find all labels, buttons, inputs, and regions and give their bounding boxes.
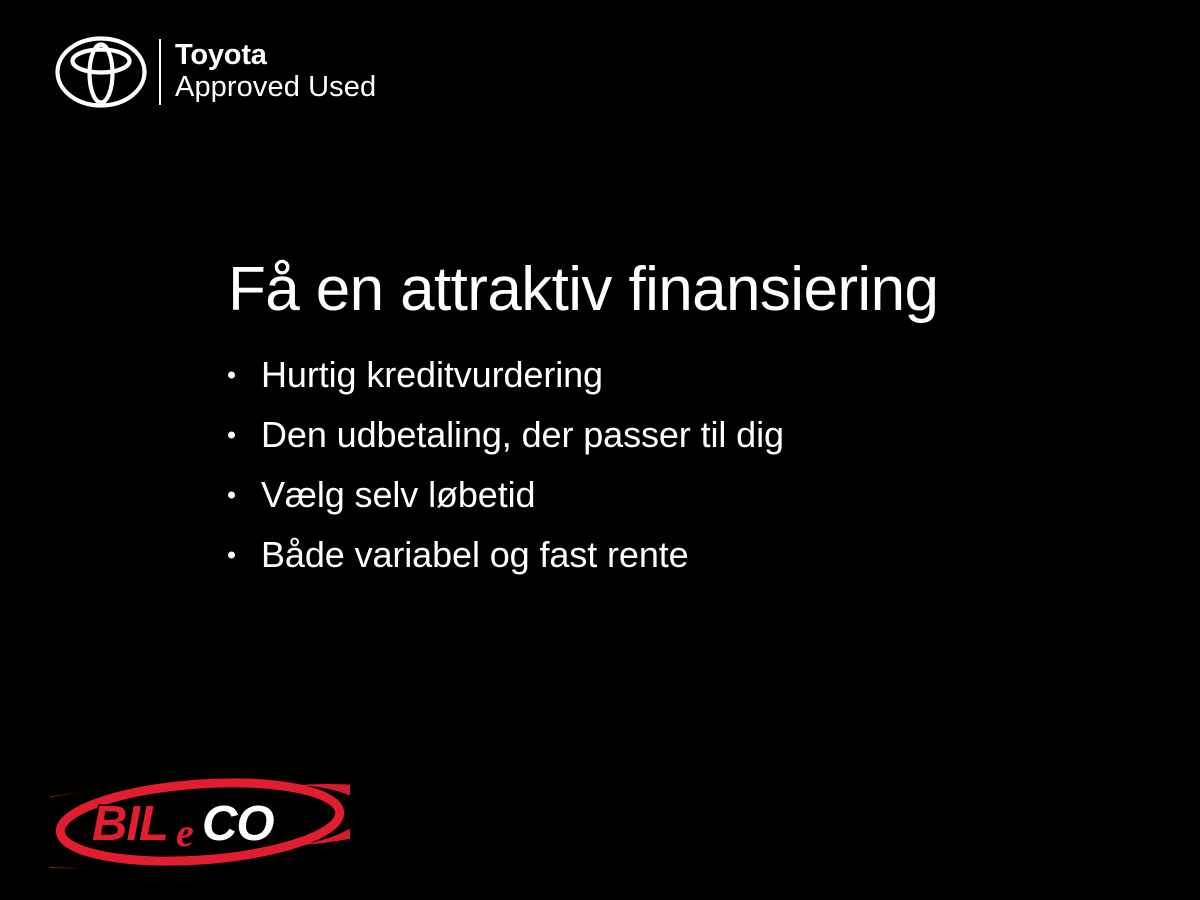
- bullet-dot-icon: [228, 492, 235, 499]
- bileco-logo-icon: BIL e CO: [50, 772, 350, 872]
- list-item-label: Hurtig kreditvurdering: [261, 357, 603, 393]
- list-item: Den udbetaling, der passer til dig: [228, 405, 1088, 465]
- slide-root: Toyota Approved Used Få en attraktiv fin…: [0, 0, 1200, 900]
- dealer-name-part-2: e: [176, 810, 194, 855]
- brand-subtitle: Approved Used: [175, 71, 376, 105]
- list-item: Både variabel og fast rente: [228, 525, 1088, 585]
- brand-name: Toyota: [175, 39, 376, 71]
- page-title: Få en attraktiv finansiering: [228, 258, 1088, 321]
- dealer-name-part-1: BIL: [92, 797, 168, 851]
- main-content: Få en attraktiv finansiering Hurtig kred…: [228, 258, 1088, 585]
- list-item-label: Den udbetaling, der passer til dig: [261, 417, 784, 453]
- toyota-approved-used-logo: Toyota Approved Used: [55, 36, 376, 108]
- list-item-label: Vælg selv løbetid: [261, 477, 535, 513]
- bileco-logo: BIL e CO: [50, 772, 350, 872]
- brand-text-block: Toyota Approved Used: [175, 37, 376, 107]
- list-item-label: Både variabel og fast rente: [261, 537, 689, 573]
- bullet-dot-icon: [228, 432, 235, 439]
- vertical-divider-icon: [159, 39, 161, 105]
- bullet-dot-icon: [228, 552, 235, 559]
- list-item: Vælg selv løbetid: [228, 465, 1088, 525]
- list-item: Hurtig kreditvurdering: [228, 345, 1088, 405]
- dealer-name-part-3: CO: [202, 797, 274, 851]
- bullet-dot-icon: [228, 372, 235, 379]
- feature-bullet-list: Hurtig kreditvurdering Den udbetaling, d…: [228, 345, 1088, 585]
- toyota-emblem-icon: [55, 36, 147, 108]
